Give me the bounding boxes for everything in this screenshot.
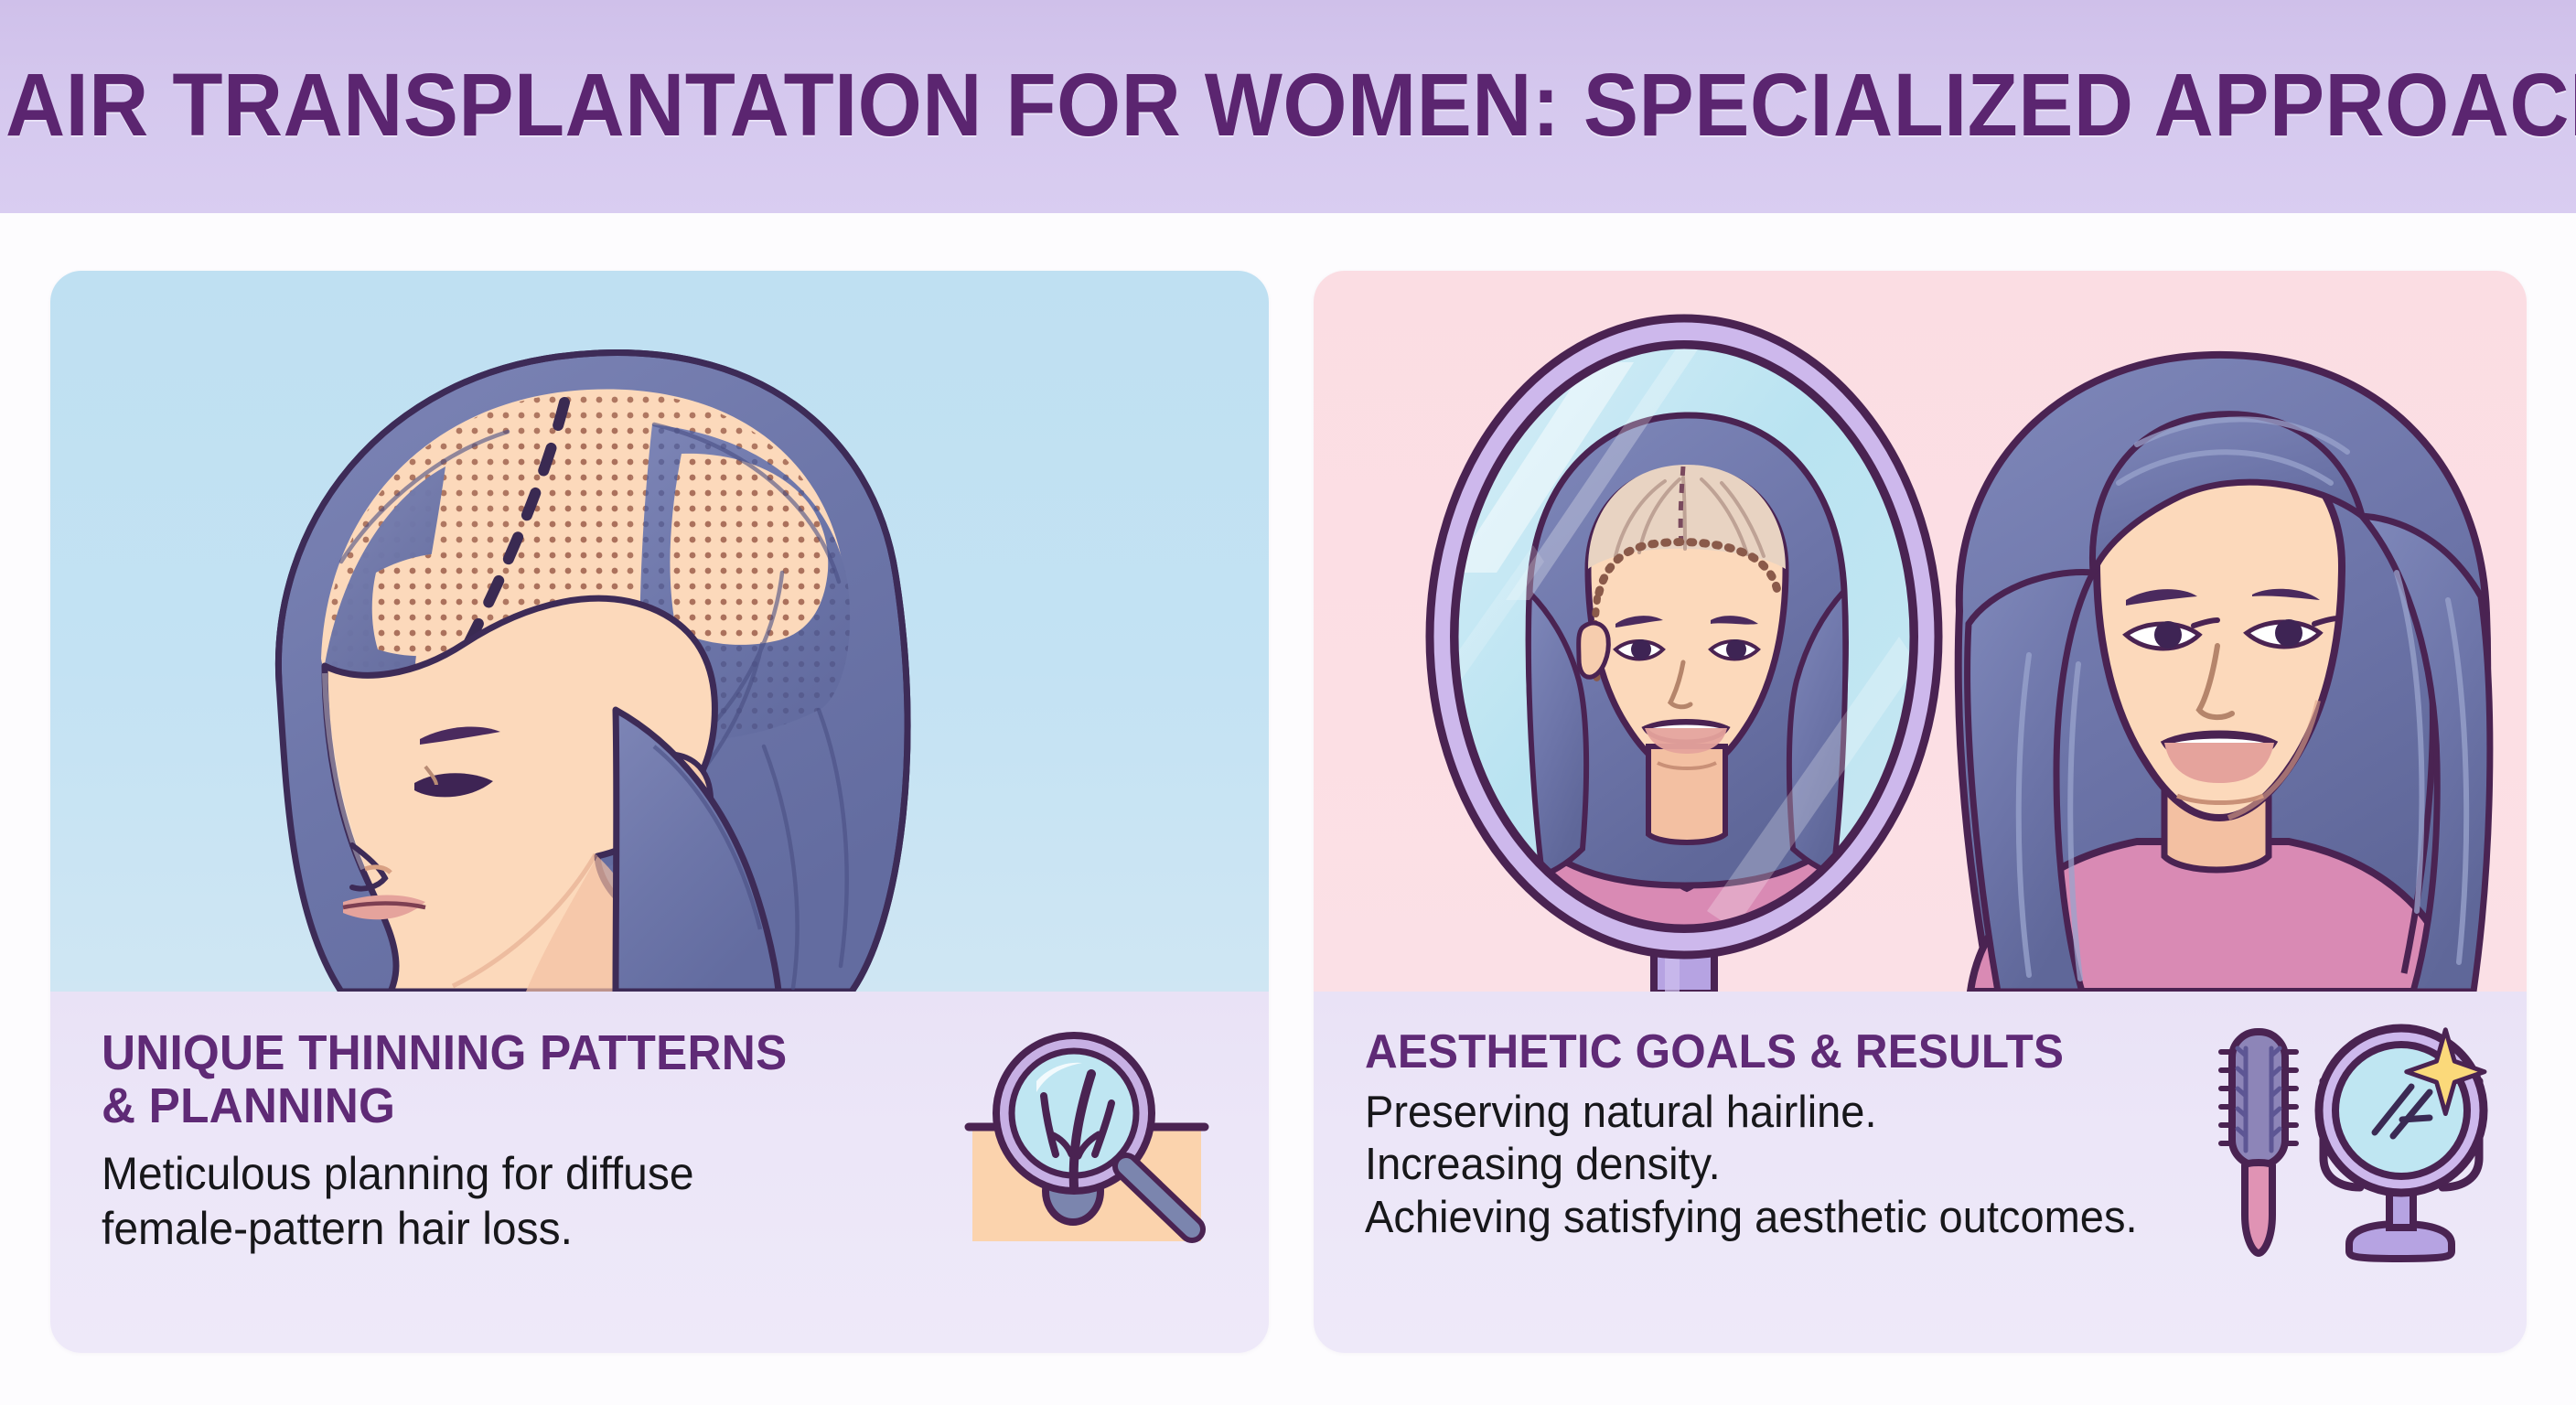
woman-after-full-hair <box>1959 355 2490 992</box>
brush-handle <box>2245 1163 2272 1253</box>
page-title: HAIR TRANSPLANTATION FOR WOMEN: SPECIALI… <box>0 60 2576 149</box>
card-illustration-mirror-before-after <box>1314 271 2527 992</box>
hairbrush-icon <box>2221 1032 2296 1253</box>
hairbrush-vanity-mirror-icon <box>2205 1008 2506 1282</box>
card-illustration-thinning-profile <box>50 271 1269 992</box>
card-text-panel-right: AESTHETIC GOALS & RESULTS Preserving nat… <box>1314 992 2527 1353</box>
cards-container: UNIQUE THINNING PATTERNS & PLANNING Meti… <box>0 213 2576 1405</box>
mirror-before-after-illustration <box>1314 271 2527 992</box>
header-banner: HAIR TRANSPLANTATION FOR WOMEN: SPECIALI… <box>0 0 2576 213</box>
vanity-mirror-icon <box>2319 1028 2485 1259</box>
magnifier-hair-follicle-icon <box>952 1017 1227 1292</box>
card-text-panel-left: UNIQUE THINNING PATTERNS & PLANNING Meti… <box>50 992 1269 1353</box>
card-aesthetic-goals-results[interactable]: AESTHETIC GOALS & RESULTS Preserving nat… <box>1314 271 2527 1353</box>
infographic-page: HAIR TRANSPLANTATION FOR WOMEN: SPECIALI… <box>0 0 2576 1405</box>
woman-head-profile-illustration <box>50 271 1269 992</box>
card-unique-thinning-patterns[interactable]: UNIQUE THINNING PATTERNS & PLANNING Meti… <box>50 271 1269 1353</box>
